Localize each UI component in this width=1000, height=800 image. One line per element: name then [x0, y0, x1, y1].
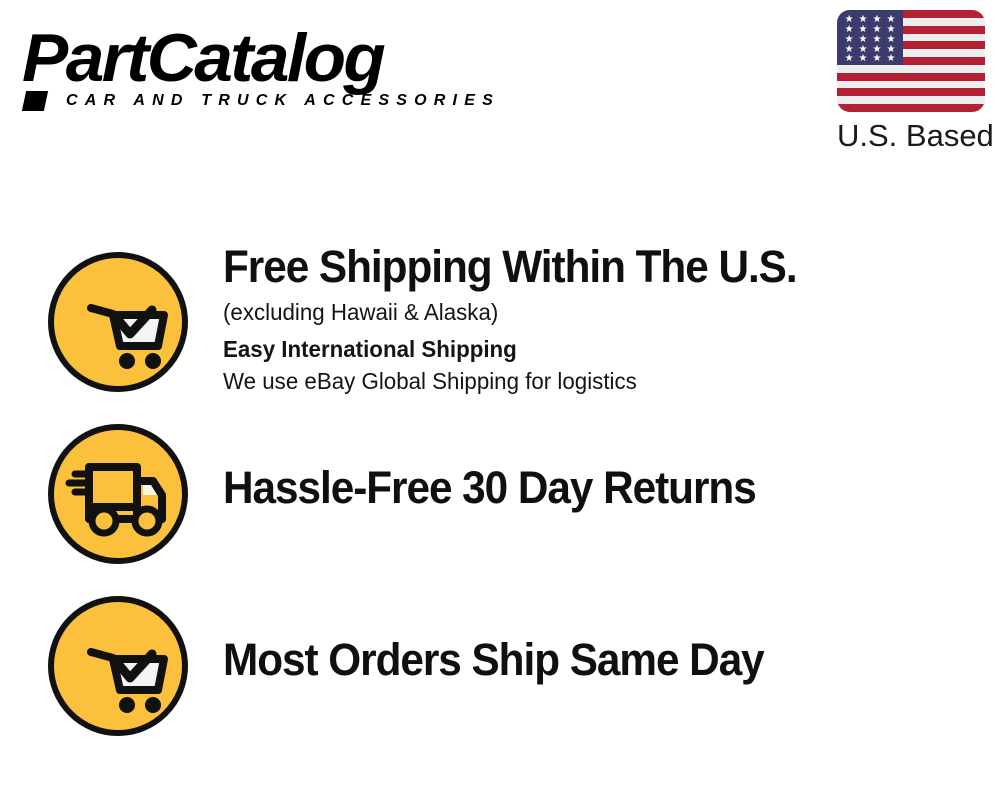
brand-tagline-row: CAR AND TRUCK ACCESSORIES — [22, 90, 492, 114]
us-flag-icon: ★ ★ ★ ★ ★ ★ ★ ★ ★ ★ ★ ★ ★ — [837, 10, 985, 112]
flag-stripe — [837, 65, 985, 73]
cart-check-icon — [45, 249, 191, 395]
feature-item: Most Orders Ship Same Day — [0, 580, 1000, 752]
feature-heading: Free Shipping Within The U.S. — [223, 240, 919, 294]
feature-text-block: Most Orders Ship Same Day — [223, 633, 963, 687]
cart-check-icon — [45, 593, 191, 739]
flag-star: ★ — [859, 54, 868, 64]
brand-tagline: CAR AND TRUCK ACCESSORIES — [66, 92, 500, 110]
feature-heading: Most Orders Ship Same Day — [223, 633, 919, 687]
feature-item: Free Shipping Within The U.S. (excluding… — [0, 236, 1000, 408]
us-based-seller-block: ★ ★ ★ ★ ★ ★ ★ ★ ★ ★ ★ ★ ★ — [837, 10, 985, 154]
flag-stripe — [837, 81, 985, 89]
flag-canton: ★ ★ ★ ★ ★ ★ ★ ★ ★ ★ ★ ★ ★ — [837, 10, 903, 65]
brand-wordmark: PartCatalog — [22, 22, 501, 94]
flag-stripe — [837, 104, 985, 112]
flag-stripe — [837, 88, 985, 96]
us-based-seller-label: U.S. Based Seller — [837, 118, 985, 154]
brand-logo[interactable]: PartCatalog CAR AND TRUCK ACCESSORIES — [22, 22, 492, 114]
feature-text-block: Hassle-Free 30 Day Returns — [223, 461, 963, 515]
logo-descender-mark — [22, 91, 48, 111]
page-header: PartCatalog CAR AND TRUCK ACCESSORIES ★ — [0, 0, 1000, 175]
feature-item: Hassle-Free 30 Day Returns — [0, 408, 1000, 580]
flag-star: ★ — [873, 54, 882, 64]
flag-stripe — [837, 73, 985, 81]
feature-subtext: (excluding Hawaii & Alaska) — [223, 296, 941, 328]
feature-text-block: Free Shipping Within The U.S. (excluding… — [223, 240, 963, 397]
feature-subtext: We use eBay Global Shipping for logistic… — [223, 365, 941, 397]
flag-star: ★ — [845, 54, 854, 64]
feature-heading: Hassle-Free 30 Day Returns — [223, 461, 919, 515]
flag-stripe — [837, 96, 985, 104]
delivery-truck-icon — [45, 421, 191, 567]
feature-subtext: Easy International Shipping — [223, 333, 941, 365]
flag-star: ★ — [886, 54, 895, 64]
